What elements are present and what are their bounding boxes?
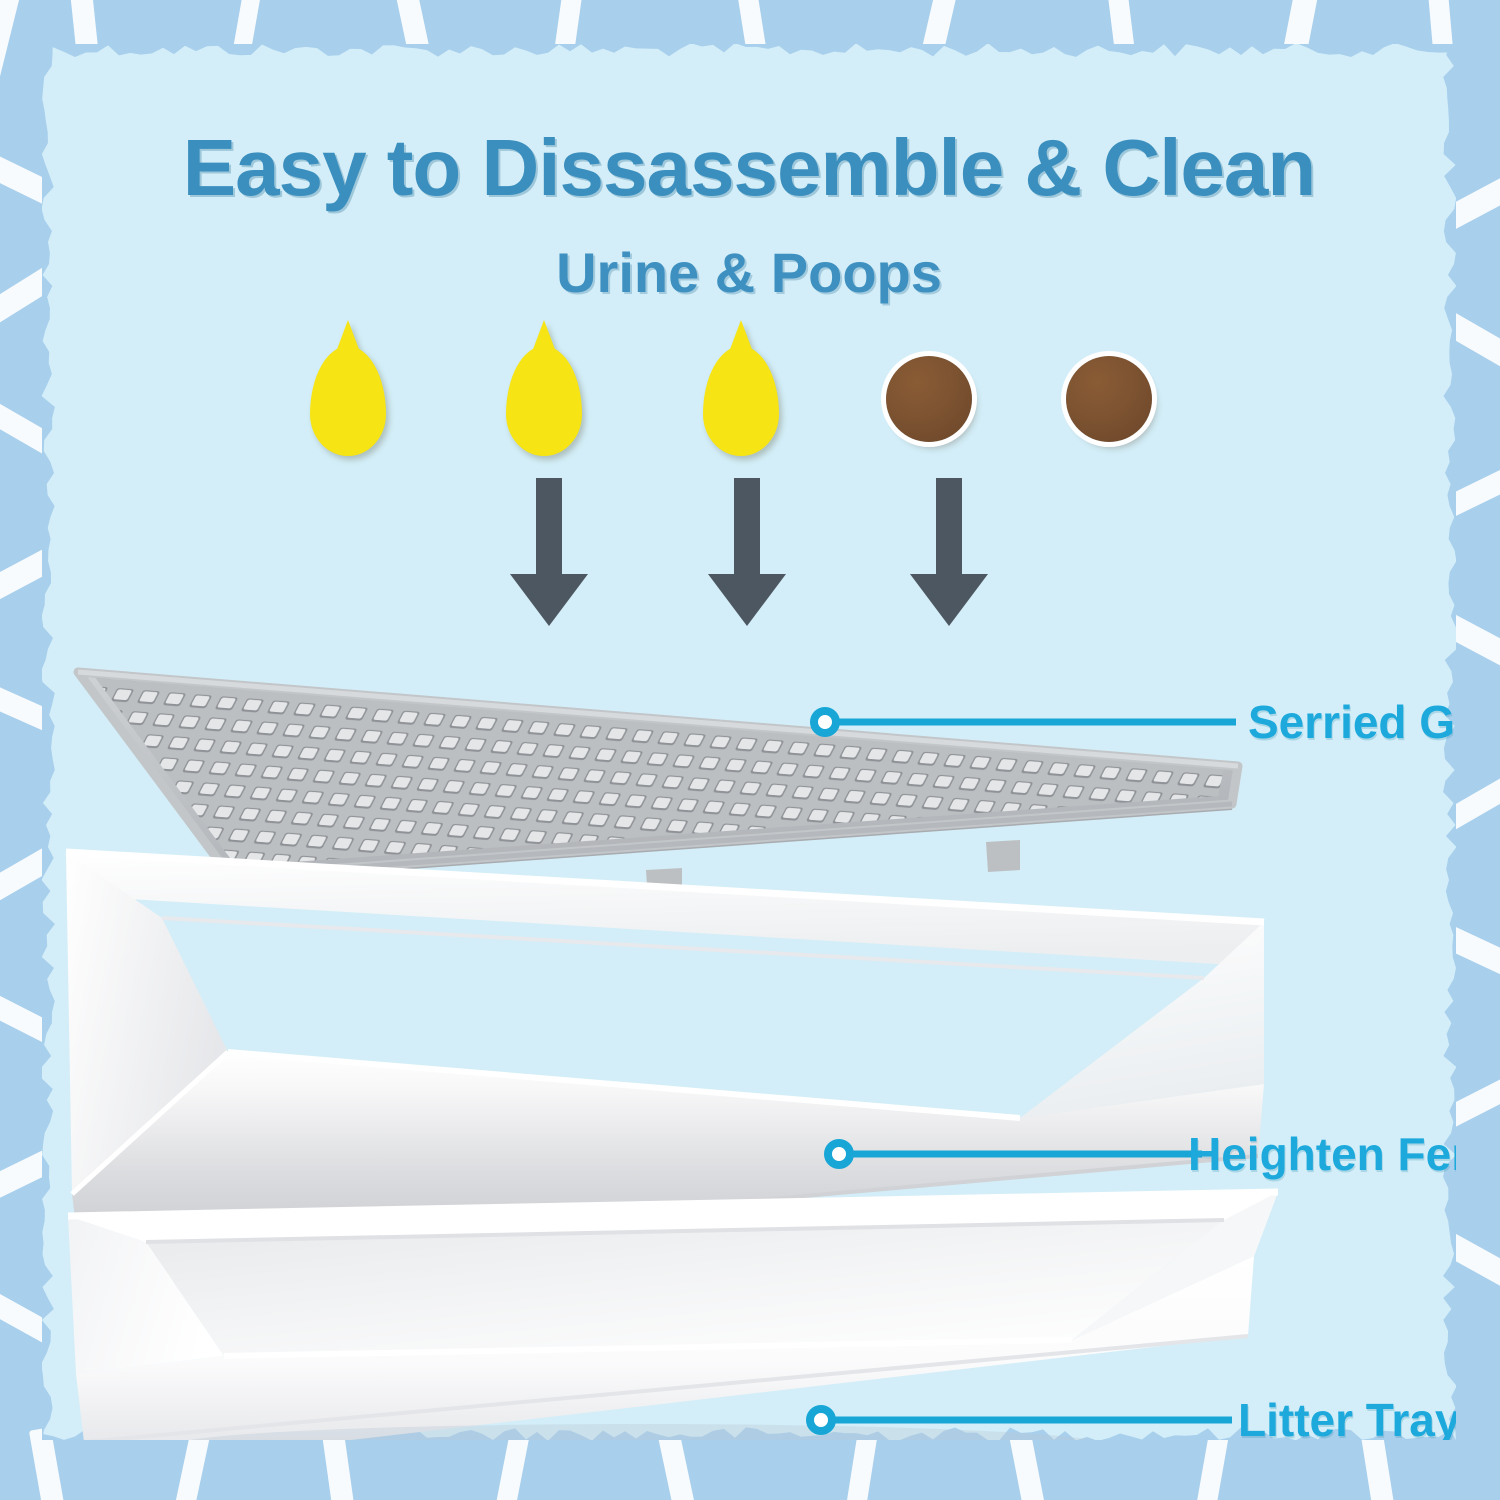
callout-label-tray: Litter Tray	[1238, 1393, 1456, 1440]
content-panel: Easy to Dissassemble & Clean Urine & Poo…	[42, 44, 1456, 1440]
callout-leader-line	[832, 1417, 1232, 1424]
callout-label-grid: Serried Grid	[1248, 695, 1456, 749]
callout-label-fence: Heighten Fence	[1188, 1127, 1456, 1181]
product-exploded-view	[42, 44, 1456, 1440]
callout-leader-line	[850, 1151, 1202, 1158]
brush-stroke	[0, 0, 28, 110]
callout-fence: Heighten Fence	[824, 1134, 1456, 1174]
callout-tray: Litter Tray	[806, 1400, 1456, 1440]
decorative-border-frame: Easy to Dissassemble & Clean Urine & Poo…	[0, 0, 1500, 1500]
callout-leader-line	[836, 719, 1236, 726]
callout-grid: Serried Grid	[810, 702, 1456, 742]
